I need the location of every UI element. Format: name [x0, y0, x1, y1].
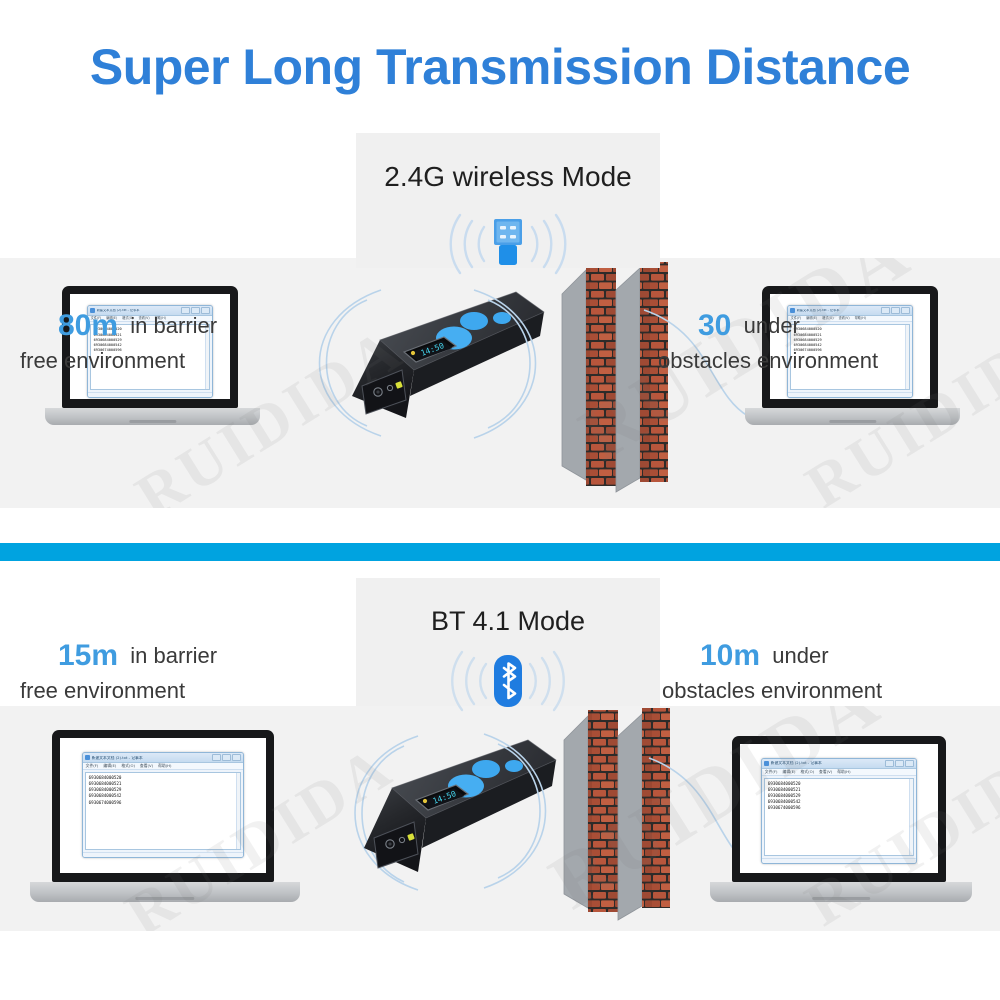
section-bluetooth-41: BT 4.1 Mode — [0, 562, 1000, 1000]
caption-left-bt: 15m in barrier free environment — [58, 636, 217, 705]
distance-suffix-right-bt: under — [772, 643, 828, 668]
caption-right-bt: 10m under obstacles environment — [700, 636, 882, 705]
mode-title-bt: BT 4.1 Mode — [356, 606, 660, 637]
distance-value-left-bt: 15m — [58, 639, 118, 672]
distance-value-left-24g: 80m — [58, 309, 118, 342]
section-divider — [0, 543, 1000, 561]
distance-line2-left-24g: free environment — [20, 346, 217, 375]
page-title: Super Long Transmission Distance — [0, 38, 1000, 96]
distance-suffix-left-bt: in barrier — [130, 643, 217, 668]
section-wireless-24g: 2.4G wireless Mode — [0, 110, 1000, 510]
distance-line2-left-bt: free environment — [20, 676, 217, 705]
distance-suffix-right-24g: under — [744, 313, 800, 338]
distance-suffix-left-24g: in barrier — [130, 313, 217, 338]
distance-line2-right-bt: obstacles environment — [662, 676, 882, 705]
usb-dongle-icon — [408, 211, 608, 277]
mode-title-24g: 2.4G wireless Mode — [356, 161, 660, 193]
bluetooth-icon — [408, 650, 608, 716]
distance-value-right-bt: 10m — [700, 639, 760, 672]
mode-panel-bt: BT 4.1 Mode — [356, 578, 660, 706]
caption-left-24g: 80m in barrier free environment — [58, 306, 217, 375]
caption-right-24g: 30 under obstacles environment — [698, 306, 878, 375]
distance-value-right-24g: 30 — [698, 309, 731, 342]
mode-panel-24g: 2.4G wireless Mode — [356, 133, 660, 268]
distance-line2-right-24g: obstacles environment — [658, 346, 878, 375]
infographic-page: Super Long Transmission Distance 2.4G wi… — [0, 0, 1000, 1000]
